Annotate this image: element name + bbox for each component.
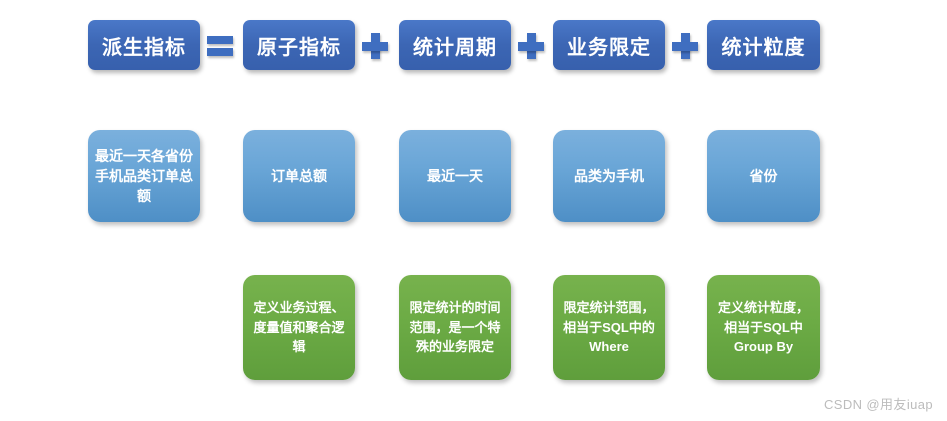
description-card-business-qualifier[interactable]: 限定统计范围，相当于SQL中的Where	[553, 275, 665, 380]
formula-box-statistical-period[interactable]: 统计周期	[399, 20, 511, 70]
example-card-derived-metric[interactable]: 最近一天各省份手机品类订单总额	[88, 130, 200, 222]
description-label: 定义统计粒度，相当于SQL中Group By	[713, 298, 814, 357]
description-card-atomic-metric[interactable]: 定义业务过程、度量值和聚合逻辑	[243, 275, 355, 380]
description-label: 限定统计的时间范围，是一个特殊的业务限定	[405, 298, 505, 357]
description-label: 限定统计范围，相当于SQL中的Where	[559, 298, 659, 357]
example-card-business-qualifier[interactable]: 品类为手机	[553, 130, 665, 222]
formula-label: 统计周期	[413, 31, 497, 60]
example-label: 订单总额	[271, 166, 327, 186]
description-label: 定义业务过程、度量值和聚合逻辑	[249, 298, 349, 357]
example-card-statistical-period[interactable]: 最近一天	[399, 130, 511, 222]
formula-box-atomic-metric[interactable]: 原子指标	[243, 20, 355, 70]
formula-label: 统计粒度	[722, 31, 806, 60]
plus-icon	[362, 33, 388, 59]
example-label: 最近一天	[427, 166, 483, 186]
formula-label: 派生指标	[102, 31, 186, 60]
formula-box-statistical-granularity[interactable]: 统计粒度	[707, 20, 820, 70]
example-label: 品类为手机	[574, 166, 644, 186]
description-card-statistical-period[interactable]: 限定统计的时间范围，是一个特殊的业务限定	[399, 275, 511, 380]
example-card-atomic-metric[interactable]: 订单总额	[243, 130, 355, 222]
formula-label: 业务限定	[567, 31, 651, 60]
description-card-statistical-granularity[interactable]: 定义统计粒度，相当于SQL中Group By	[707, 275, 820, 380]
watermark: CSDN @用友iuap	[824, 394, 933, 413]
example-card-statistical-granularity[interactable]: 省份	[707, 130, 820, 222]
diagram-canvas: 派生指标 原子指标 统计周期 业务限定 统计粒度 最近一天各省份手机品类订单总额…	[0, 0, 947, 421]
example-label: 省份	[750, 166, 778, 186]
equals-icon	[207, 33, 233, 59]
formula-box-business-qualifier[interactable]: 业务限定	[553, 20, 665, 70]
formula-label: 原子指标	[257, 31, 341, 60]
example-label: 最近一天各省份手机品类订单总额	[94, 146, 194, 207]
plus-icon	[672, 33, 698, 59]
plus-icon	[518, 33, 544, 59]
formula-box-derived-metric[interactable]: 派生指标	[88, 20, 200, 70]
